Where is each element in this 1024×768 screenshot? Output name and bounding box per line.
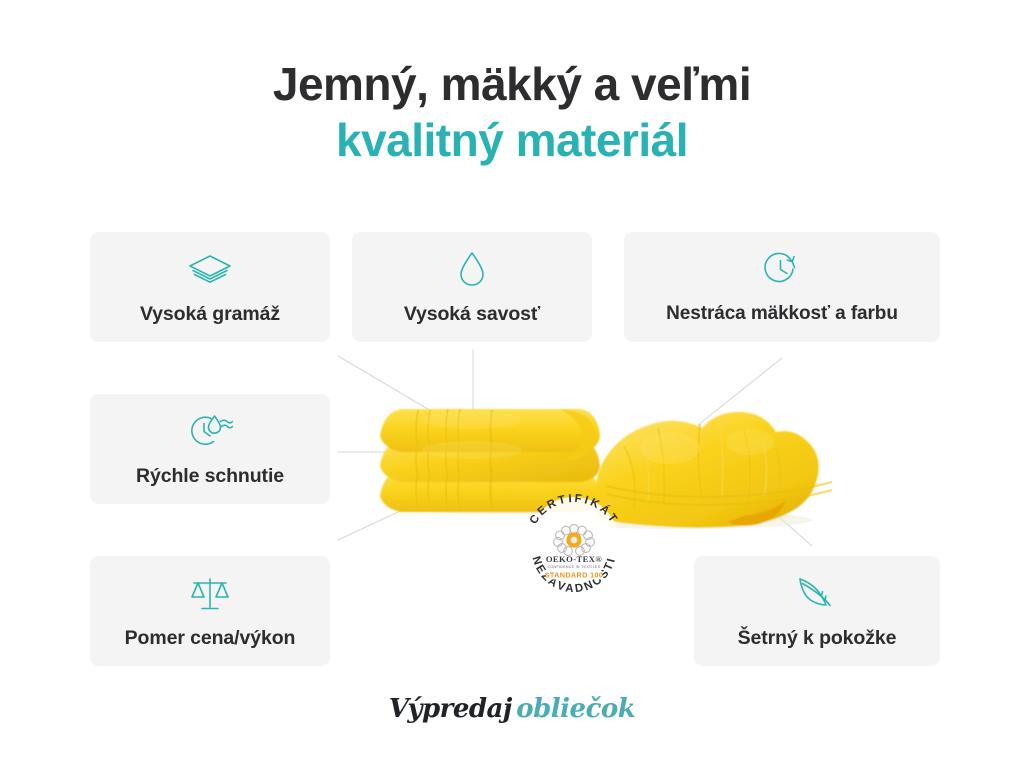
feature-card-vysoka-savost[interactable]: Vysoká savosť	[352, 232, 592, 342]
feature-card-label: Vysoká gramáž	[140, 303, 280, 326]
feature-card-label: Nestráca mäkkosť a farbu	[666, 303, 898, 325]
leaf-icon	[793, 571, 841, 615]
clock-drop-icon	[186, 409, 234, 453]
infographic-canvas: Jemný, mäkký a veľmi kvalitný materiál	[0, 0, 1024, 768]
oeko-tex-subtitle: CONFIDENCE IN TEXTILES	[548, 565, 601, 569]
brand-name-part2: obliečok	[516, 694, 635, 724]
feature-card-label: Šetrný k pokožke	[738, 627, 897, 650]
feature-card-nestraca-makkost-a-farbu[interactable]: Nestráca mäkkosť a farbu	[624, 232, 940, 342]
certificate-badge: CERTIFIKÁT NEZÁVADNOSTI	[518, 488, 630, 592]
feature-card-pomer-cena-vykon[interactable]: Pomer cena/výkon	[90, 556, 330, 666]
brand-name-part1: Výpredaj	[389, 694, 512, 724]
oeko-tex-wordmark: OEKO-TEX®	[546, 554, 603, 564]
water-drop-icon	[448, 247, 496, 291]
oeko-tex-standard: STANDARD 100	[545, 571, 604, 580]
brand-logo[interactable]: Výpredaj obliečok	[0, 694, 1024, 724]
feature-card-label: Pomer cena/výkon	[125, 627, 296, 650]
page-title: Jemný, mäkký a veľmi kvalitný materiál	[0, 56, 1024, 168]
headline-line-1: Jemný, mäkký a veľmi	[0, 56, 1024, 112]
feature-card-label: Rýchle schnutie	[136, 465, 284, 488]
clock-refresh-icon	[758, 247, 806, 291]
feature-card-label: Vysoká savosť	[404, 303, 540, 326]
feature-card-vysoka-gramaz[interactable]: Vysoká gramáž	[90, 232, 330, 342]
headline-line-2: kvalitný materiál	[0, 112, 1024, 168]
balance-scale-icon	[186, 571, 234, 615]
layers-icon	[186, 247, 234, 291]
feature-card-setrny-k-pokozke[interactable]: Šetrný k pokožke	[694, 556, 940, 666]
feature-card-rychle-schnutie[interactable]: Rýchle schnutie	[90, 394, 330, 504]
oeko-tex-badge: CERTIFIKÁT NEZÁVADNOSTI	[518, 488, 630, 592]
